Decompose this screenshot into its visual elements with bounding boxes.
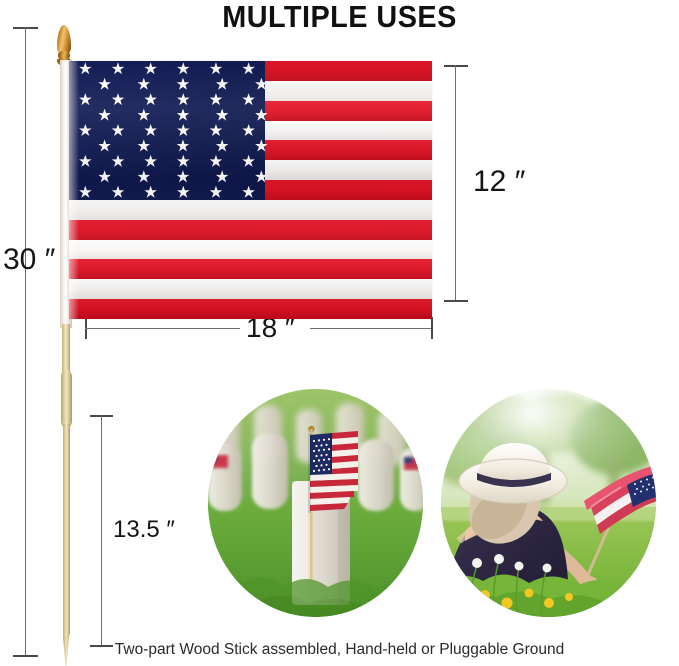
star-icon (79, 93, 92, 106)
star-icon (209, 124, 222, 137)
flag-star-row (69, 138, 297, 153)
woman-meadow-scene (441, 389, 656, 617)
flag-stripe (69, 220, 432, 240)
star-icon (137, 78, 150, 91)
star-icon (137, 109, 150, 122)
star-icon (144, 124, 157, 137)
star-icon (209, 93, 222, 106)
dim-tick-bottom (444, 300, 468, 302)
cemetery-flag-photo (208, 389, 423, 617)
flag-star-row (69, 169, 297, 184)
flag-stripe (69, 200, 432, 220)
star-icon (79, 155, 92, 168)
star-icon (111, 155, 124, 168)
star-icon (176, 170, 189, 183)
flag-star-row (69, 107, 297, 122)
flag-stripe (69, 240, 432, 260)
star-icon (216, 78, 229, 91)
star-icon (98, 109, 111, 122)
star-icon (209, 186, 222, 199)
cemetery-scene (208, 389, 423, 617)
star-icon (216, 170, 229, 183)
united-states-flag (69, 61, 432, 319)
star-icon (255, 170, 268, 183)
star-icon (111, 93, 124, 106)
star-icon (177, 155, 190, 168)
star-icon (216, 109, 229, 122)
star-icon (209, 62, 222, 75)
star-icon (177, 93, 190, 106)
flag-star-row (69, 76, 297, 91)
star-icon (242, 124, 255, 137)
star-icon (98, 139, 111, 152)
flag-stripe (69, 299, 432, 319)
star-icon (144, 186, 157, 199)
wood-stick-lower (63, 424, 70, 634)
flag-star-row (69, 61, 265, 76)
star-icon (111, 62, 124, 75)
flag-canton (69, 61, 265, 200)
flag-star-row (69, 184, 265, 199)
star-icon (255, 139, 268, 152)
star-icon (137, 139, 150, 152)
flag-stripe (69, 279, 432, 299)
star-icon (176, 78, 189, 91)
star-icon (177, 186, 190, 199)
star-icon (255, 109, 268, 122)
star-icon (216, 139, 229, 152)
star-icon (111, 186, 124, 199)
flag-star-row (69, 123, 265, 138)
star-icon (242, 62, 255, 75)
star-icon (111, 124, 124, 137)
star-icon (98, 78, 111, 91)
dim-line-vertical (455, 65, 456, 302)
star-icon (242, 186, 255, 199)
dim-label-flag-height: 12 ″ (473, 165, 525, 199)
star-icon (242, 93, 255, 106)
star-icon (176, 139, 189, 152)
star-icon (79, 124, 92, 137)
product-infographic: MULTIPLE USES 30 ″ 12 ″ 18 ″ 13.5 ″ (0, 0, 679, 666)
caption-text: Two-part Wood Stick assembled, Hand-held… (0, 641, 679, 659)
star-icon (144, 155, 157, 168)
flag-stripe (69, 259, 432, 279)
wood-stick-upper (62, 324, 70, 376)
star-icon (177, 124, 190, 137)
star-icon (177, 62, 190, 75)
star-icon (176, 109, 189, 122)
star-icon (144, 93, 157, 106)
star-icon (242, 155, 255, 168)
star-icon (98, 170, 111, 183)
woman-holding-flag-photo (441, 389, 656, 617)
star-icon (255, 78, 268, 91)
flag-star-row (69, 154, 265, 169)
flag-star-row (69, 92, 265, 107)
star-icon (137, 170, 150, 183)
star-icon (79, 62, 92, 75)
wood-stick-joint (61, 370, 72, 428)
star-icon (209, 155, 222, 168)
star-icon (79, 186, 92, 199)
star-icon (144, 62, 157, 75)
dim-line-vertical (25, 27, 26, 656)
